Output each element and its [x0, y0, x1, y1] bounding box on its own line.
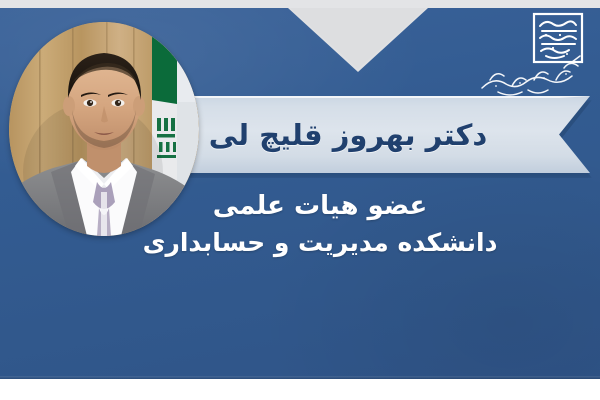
banner-bottom-edge	[0, 376, 600, 379]
portrait-avatar	[9, 22, 199, 236]
faculty-profile-card: دکتر بهروز قلیچ لی عضو هیات علمی دانشکده…	[0, 0, 600, 400]
university-logo: دانشگاه شهید بهشتی روابط عمومی و اطلاع ر…	[476, 10, 592, 102]
logo-square	[534, 14, 582, 62]
person-name: دکتر بهروز قلیچ لی	[148, 96, 548, 173]
